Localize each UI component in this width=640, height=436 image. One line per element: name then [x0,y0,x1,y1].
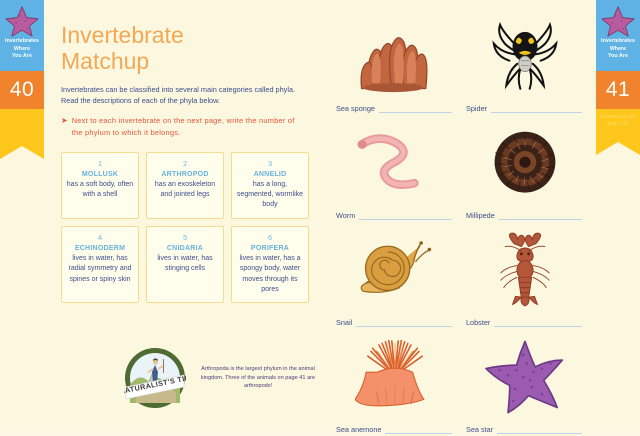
phylum-description: lives in water, has a spongy body, water… [236,254,304,296]
phylum-description: lives in water, has radial symmetry and … [66,254,134,285]
phylum-card: 4 ECHINODERM lives in water, has radial … [61,226,139,304]
animal-cell: Sea sponge [330,8,460,115]
answer-row[interactable]: Spider [460,104,590,113]
animal-label: Sea star [466,425,493,434]
right-tab-caption-line3: You Are [601,53,635,61]
animal-cell: Worm [330,115,460,222]
right-tab-note: Answer key on page 110 [600,114,636,127]
lobster-icon [460,222,590,318]
animal-label: Millipede [466,211,495,220]
sea-star-icon [601,5,635,37]
sea-star-icon [460,329,590,425]
phylum-description: has an exoskeleton and jointed legs [151,180,219,201]
phylum-name: ANNELID [236,169,304,180]
page-title-line1: Invertebrate [61,22,304,48]
sea-anemone-icon [330,329,460,425]
answer-row[interactable]: Sea sponge [330,104,460,113]
answer-row[interactable]: Worm [330,211,460,220]
answer-row[interactable]: Millipede [460,211,590,220]
right-page: Sea sponge [320,0,596,431]
phylum-number: 1 [66,159,134,169]
answer-blank[interactable] [497,425,582,434]
answer-row[interactable]: Sea star [460,425,590,434]
naturalists-tip: NATURALIST'S TIP Arthropoda is the large… [124,347,322,409]
phylum-name: MOLLUSK [66,169,134,180]
right-tab-caption: Invertebrates Where You Are [601,38,635,61]
phyla-card-grid-row1: 1 MOLLUSK has a soft body, often with a … [61,152,309,219]
phylum-name: ARTHROPOD [151,169,219,180]
right-page-number: 41 [596,71,640,109]
left-tab-caption: Invertebrates Where You Are [5,38,39,61]
left-tab-caption-line2: Where [5,46,39,54]
spider-icon [460,8,590,104]
phylum-number: 5 [151,233,219,243]
phylum-name: PORIFERA [236,243,304,254]
left-tab-caption-line1: Invertebrates [5,38,39,46]
page-title-line2: Matchup [61,48,304,74]
sea-sponge-icon [330,8,460,104]
animal-label: Lobster [466,318,490,327]
animal-label: Sea sponge [336,104,375,113]
right-page-tab: Invertebrates Where You Are 41 Answer ke… [596,0,640,142]
phyla-card-grid-row2: 4 ECHINODERM lives in water, has radial … [61,226,309,304]
answer-blank[interactable] [356,318,452,327]
right-tab-header: Invertebrates Where You Are [596,0,640,71]
animal-label: Spider [466,104,487,113]
left-page-number: 40 [0,71,44,109]
animal-label: Worm [336,211,355,220]
answer-blank[interactable] [491,104,582,113]
animal-cell: Millipede [460,115,590,222]
instruction-text: Next to each invertebrate on the next pa… [72,115,301,138]
right-tab-caption-line1: Invertebrates [601,38,635,46]
answer-blank[interactable] [379,104,452,113]
phylum-number: 3 [236,159,304,169]
right-tab-banner: Answer key on page 110 [596,109,640,142]
worm-icon [330,115,460,211]
phylum-card: 1 MOLLUSK has a soft body, often with a … [61,152,139,219]
animal-label: Snail [336,318,352,327]
snail-icon [330,222,460,318]
answer-row[interactable]: Sea anemone [330,425,460,434]
phylum-name: CNIDARIA [151,243,219,254]
intro-paragraph: Invertebrates can be classified into sev… [61,84,296,106]
answer-blank[interactable] [499,211,582,220]
phylum-number: 6 [236,233,304,243]
answer-blank[interactable] [385,425,452,434]
answer-row[interactable]: Snail [330,318,460,327]
animal-cell: Sea star [460,329,590,436]
phylum-number: 2 [151,159,219,169]
phylum-description: lives in water, has stinging cells [151,254,219,275]
animal-cell: Spider [460,8,590,115]
left-tab-banner [0,109,44,146]
phylum-number: 4 [66,233,134,243]
answer-row[interactable]: Lobster [460,318,590,327]
answer-blank[interactable] [359,211,452,220]
left-page-tab: Invertebrates Where You Are 40 [0,0,44,146]
left-page: Invertebrate Matchup Invertebrates can b… [44,0,316,431]
phylum-card: 2 ARTHROPOD has an exoskeleton and joint… [146,152,224,219]
tip-text: Arthropoda is the largest phylum in the … [194,365,322,390]
phylum-description: has a long, segmented, wormlike body [236,180,304,211]
arrow-bullet-icon: ➤ [61,115,68,138]
phylum-card: 6 PORIFERA lives in water, has a spongy … [231,226,309,304]
answer-blank[interactable] [494,318,582,327]
millipede-icon [460,115,590,211]
book-spread: Invertebrates Where You Are 40 Invertebr… [0,0,640,431]
animal-cell: Lobster [460,222,590,329]
left-tab-header: Invertebrates Where You Are [0,0,44,71]
phylum-card: 5 CNIDARIA lives in water, has stinging … [146,226,224,304]
animal-label: Sea anemone [336,425,381,434]
animal-cell: Sea anemone [330,329,460,436]
instruction-block: ➤ Next to each invertebrate on the next … [61,115,301,138]
sea-star-icon [5,5,39,37]
hiker-badge-icon: NATURALIST'S TIP [124,347,186,409]
right-tab-caption-line2: Where [601,46,635,54]
left-tab-caption-line3: You Are [5,53,39,61]
animal-cell: Snail [330,222,460,329]
phylum-description: has a soft body, often with a shell [66,180,134,201]
animal-grid: Sea sponge [330,8,590,436]
phylum-card: 3 ANNELID has a long, segmented, wormlik… [231,152,309,219]
page-title: Invertebrate Matchup [61,22,304,74]
phylum-name: ECHINODERM [66,243,134,254]
